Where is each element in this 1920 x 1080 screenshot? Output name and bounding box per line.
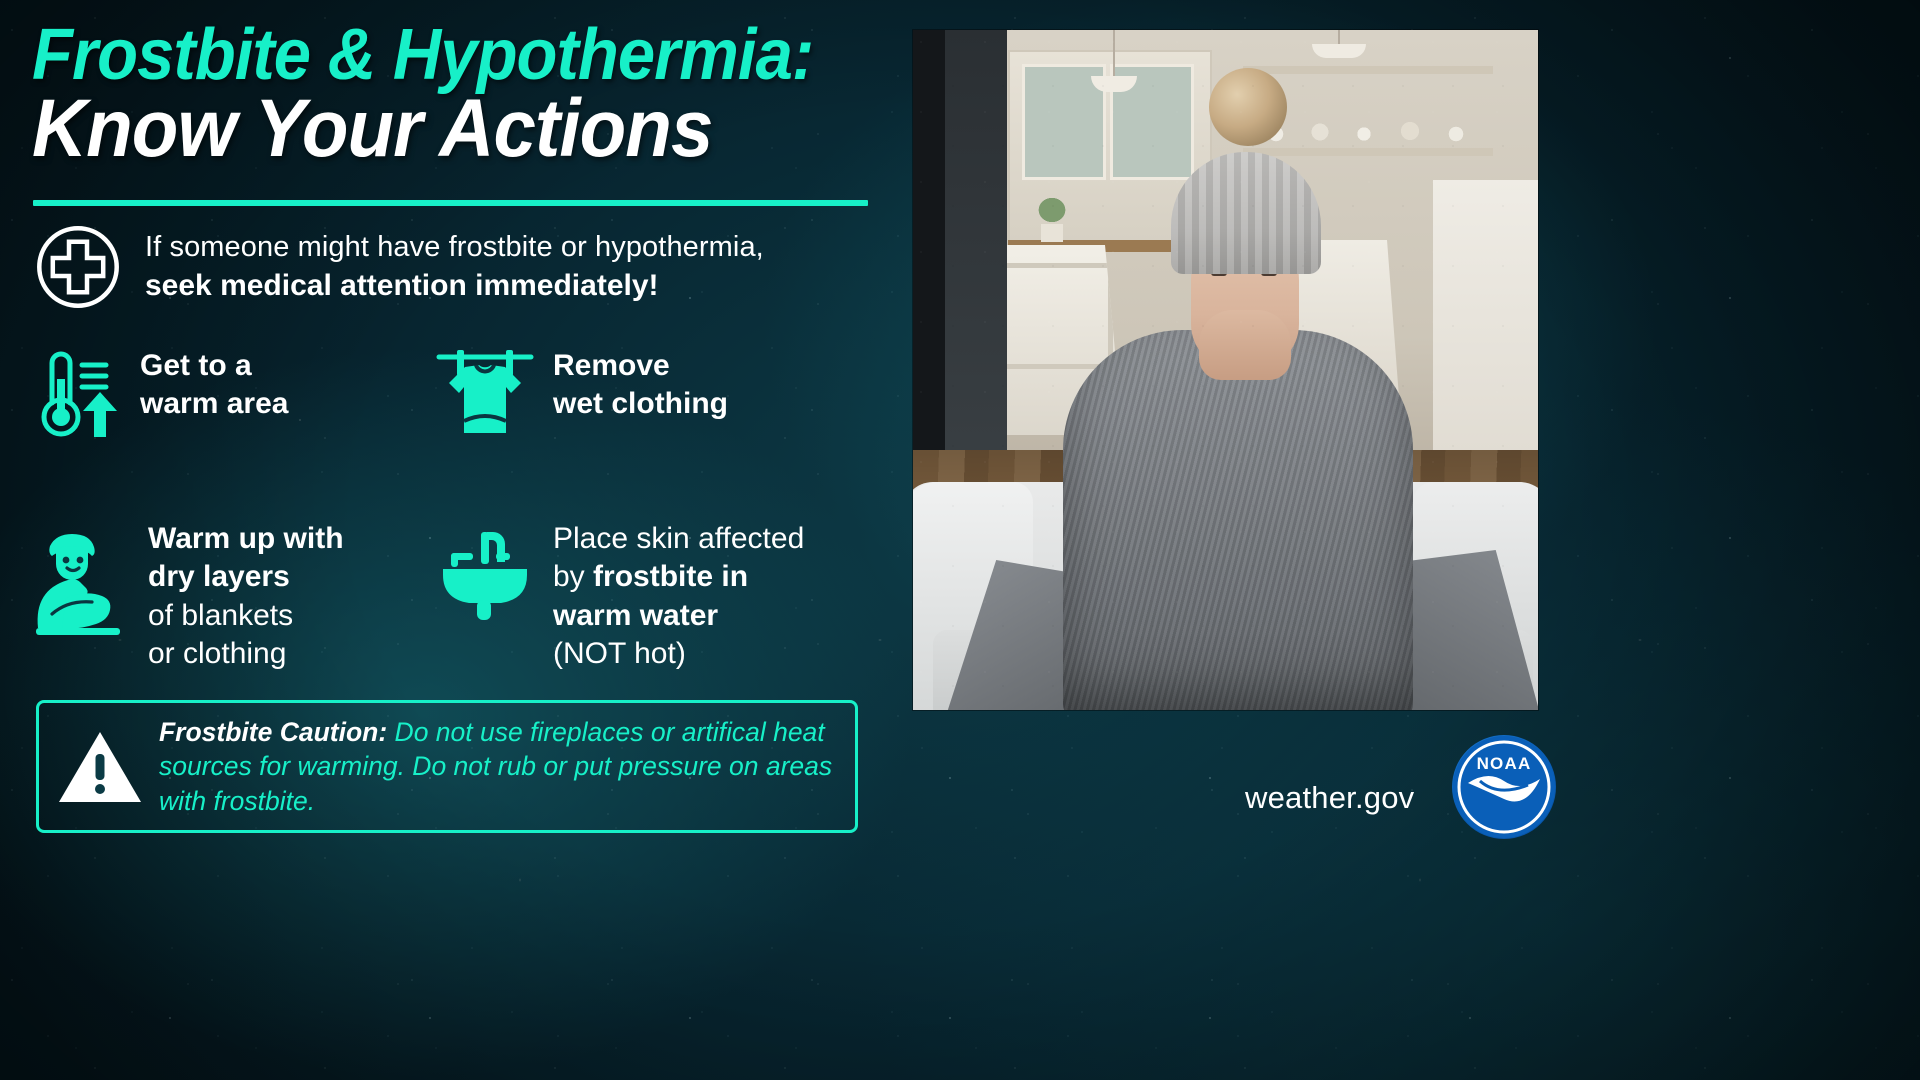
medical-attention-banner: If someone might have frostbite or hypot… bbox=[33, 222, 873, 312]
tshirt-clothesline-icon bbox=[435, 345, 535, 445]
tip-text-place-skin-warm-water: Place skin affected by frostbite in warm… bbox=[553, 518, 804, 674]
tip-line: Place skin affected bbox=[553, 520, 804, 558]
person-wrapped-in-blanket-icon bbox=[30, 518, 130, 643]
caution-lead: Frostbite Caution: bbox=[159, 717, 387, 747]
weather-gov-label: weather.gov bbox=[1245, 780, 1414, 816]
warning-triangle-icon bbox=[57, 728, 143, 806]
tip-text-remove-wet-clothing: Remove wet clothing bbox=[553, 345, 728, 424]
photo-person-wrapped-in-blanket bbox=[913, 30, 1538, 710]
caution-text: Frostbite Caution: Do not use fireplaces… bbox=[159, 715, 837, 818]
medical-cross-circle-icon bbox=[33, 222, 123, 312]
tip-text-warm-up-dry-layers: Warm up with dry layers of blankets or c… bbox=[148, 518, 344, 674]
frostbite-caution-box: Frostbite Caution: Do not use fireplaces… bbox=[36, 700, 858, 833]
left-content-column: Frostbite & Hypothermia: Know Your Actio… bbox=[0, 0, 900, 1080]
tip-line: warm water bbox=[553, 597, 804, 635]
tip-place-skin-warm-water: Place skin affected by frostbite in warm… bbox=[435, 518, 885, 674]
tip-remove-wet-clothing: Remove wet clothing bbox=[435, 345, 885, 500]
medical-banner-line-1: If someone might have frostbite or hypot… bbox=[145, 229, 764, 267]
tip-get-to-warm-area: Get to a warm area bbox=[30, 345, 435, 500]
tip-text-get-to-warm-area: Get to a warm area bbox=[140, 345, 288, 424]
tip-line-prefix: by bbox=[553, 560, 593, 593]
medical-banner-text: If someone might have frostbite or hypot… bbox=[145, 229, 764, 306]
tip-line: Get to a bbox=[140, 347, 288, 385]
title-line-1: Frostbite & Hypothermia: bbox=[32, 22, 841, 89]
tip-line: dry layers bbox=[148, 558, 344, 596]
tip-line: wet clothing bbox=[553, 385, 728, 423]
tips-grid: Get to a warm area bbox=[30, 345, 890, 674]
noaa-seal-logo: NOAA bbox=[1452, 735, 1556, 839]
tip-line: or clothing bbox=[148, 635, 344, 673]
tip-line: Remove bbox=[553, 347, 728, 385]
tip-line: by frostbite in bbox=[553, 558, 804, 596]
tip-line-emphasis: frostbite in bbox=[593, 560, 748, 593]
infographic-poster: Frostbite & Hypothermia: Know Your Actio… bbox=[0, 0, 1920, 1080]
noaa-logo-text: NOAA bbox=[1477, 754, 1532, 773]
tip-warm-up-dry-layers: Warm up with dry layers of blankets or c… bbox=[30, 518, 435, 674]
tip-line: warm area bbox=[140, 385, 288, 423]
tips-row-1: Get to a warm area bbox=[30, 345, 890, 500]
thermometer-up-arrow-icon bbox=[30, 345, 122, 445]
page-title: Frostbite & Hypothermia: Know Your Actio… bbox=[32, 22, 902, 167]
tips-row-2: Warm up with dry layers of blankets or c… bbox=[30, 518, 890, 674]
sink-faucet-icon bbox=[435, 518, 535, 624]
title-line-2: Know Your Actions bbox=[32, 91, 841, 167]
tip-line: of blankets bbox=[148, 597, 344, 635]
title-divider-rule bbox=[33, 200, 868, 206]
medical-banner-line-2: seek medical attention immediately! bbox=[145, 266, 764, 305]
tip-line: (NOT hot) bbox=[553, 635, 804, 673]
tip-line: Warm up with bbox=[148, 520, 344, 558]
